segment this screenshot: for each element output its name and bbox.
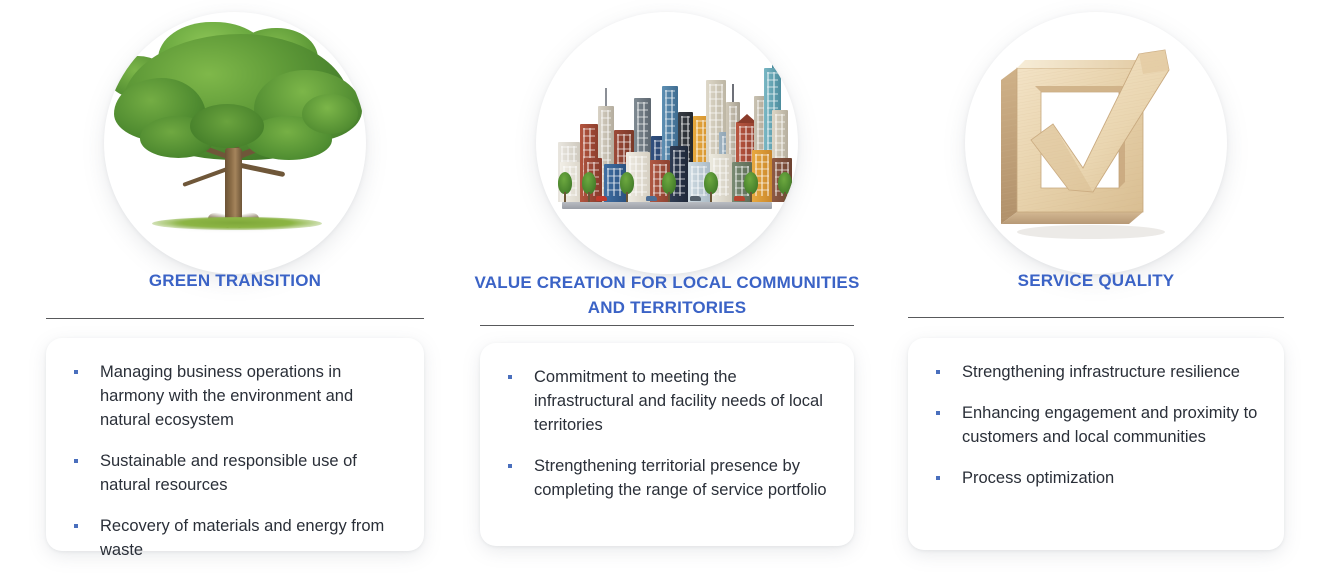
pillar-heading: VALUE CREATION FOR LOCAL COMMUNITIES AND… [462, 270, 872, 320]
tree-photo-medallion [104, 12, 366, 274]
tree-trunk [225, 148, 242, 226]
bullet-list: Strengthening infrastructure resilience … [928, 360, 1264, 490]
list-item: Process optimization [928, 466, 1264, 490]
pillar-column-value-creation: VALUE CREATION FOR LOCAL COMMUNITIES AND… [462, 0, 872, 575]
heading-divider [908, 317, 1284, 318]
pillar-card: Commitment to meeting the infrastructura… [480, 343, 854, 546]
car-icon [646, 196, 657, 201]
tree-grass-patch [152, 217, 322, 230]
list-item: Recovery of materials and energy from wa… [66, 514, 404, 562]
square-bullet-icon [74, 370, 78, 374]
street-tree-icon [558, 172, 572, 202]
list-item-text: Strengthening territorial presence by co… [534, 457, 827, 499]
list-item: Commitment to meeting the infrastructura… [500, 365, 834, 437]
street-tree-icon [662, 172, 676, 202]
street-tree-icon [778, 172, 792, 202]
car-icon [734, 196, 745, 201]
list-item-text: Strengthening infrastructure resilience [962, 363, 1240, 381]
tree-canopy-cluster [302, 94, 358, 134]
heading-divider [480, 325, 854, 326]
square-bullet-icon [936, 476, 940, 480]
cityscape-illustration-medallion [536, 12, 798, 274]
list-item-text: Recovery of materials and energy from wa… [100, 517, 384, 559]
square-bullet-icon [936, 411, 940, 415]
square-bullet-icon [74, 459, 78, 463]
tree-canopy-cluster [190, 104, 264, 148]
pillar-column-green-transition: GREEN TRANSITION Managing business opera… [28, 0, 442, 575]
city-street-base [562, 202, 772, 209]
list-item: Sustainable and responsible use of natur… [66, 449, 404, 497]
bullet-list: Commitment to meeting the infrastructura… [500, 365, 834, 502]
square-bullet-icon [508, 464, 512, 468]
street-tree-icon [582, 172, 596, 202]
wooden-checkmark-illustration [965, 12, 1227, 274]
pillar-column-service-quality: SERVICE QUALITY Strengthening infrastruc… [890, 0, 1302, 575]
list-item-text: Commitment to meeting the infrastructura… [534, 368, 823, 434]
square-bullet-icon [508, 375, 512, 379]
wooden-check-svg [983, 36, 1209, 250]
heading-divider [46, 318, 424, 319]
list-item: Strengthening territorial presence by co… [500, 454, 834, 502]
city-skyline [558, 52, 776, 202]
cityscape-illustration [536, 12, 798, 274]
pillar-heading: GREEN TRANSITION [28, 268, 442, 293]
pillar-card: Strengthening infrastructure resilience … [908, 338, 1284, 550]
wooden-checkmark-medallion [965, 12, 1227, 274]
list-item-text: Enhancing engagement and proximity to cu… [962, 404, 1257, 446]
square-bullet-icon [74, 524, 78, 528]
list-item-text: Process optimization [962, 469, 1114, 487]
tree-illustration [104, 12, 366, 274]
list-item: Managing business operations in harmony … [66, 360, 404, 432]
list-item: Enhancing engagement and proximity to cu… [928, 401, 1264, 449]
pillar-heading: SERVICE QUALITY [890, 268, 1302, 293]
bullet-list: Managing business operations in harmony … [66, 360, 404, 562]
pillars-board: GREEN TRANSITION Managing business opera… [0, 0, 1332, 575]
list-item-text: Managing business operations in harmony … [100, 363, 353, 429]
street-tree-icon [620, 172, 634, 202]
list-item-text: Sustainable and responsible use of natur… [100, 452, 357, 494]
street-tree-icon [744, 172, 758, 202]
car-icon [690, 196, 701, 201]
car-icon [596, 196, 607, 201]
square-bullet-icon [936, 370, 940, 374]
tree-branch [182, 166, 230, 187]
street-tree-icon [704, 172, 718, 202]
pillar-card: Managing business operations in harmony … [46, 338, 424, 551]
list-item: Strengthening infrastructure resilience [928, 360, 1264, 384]
